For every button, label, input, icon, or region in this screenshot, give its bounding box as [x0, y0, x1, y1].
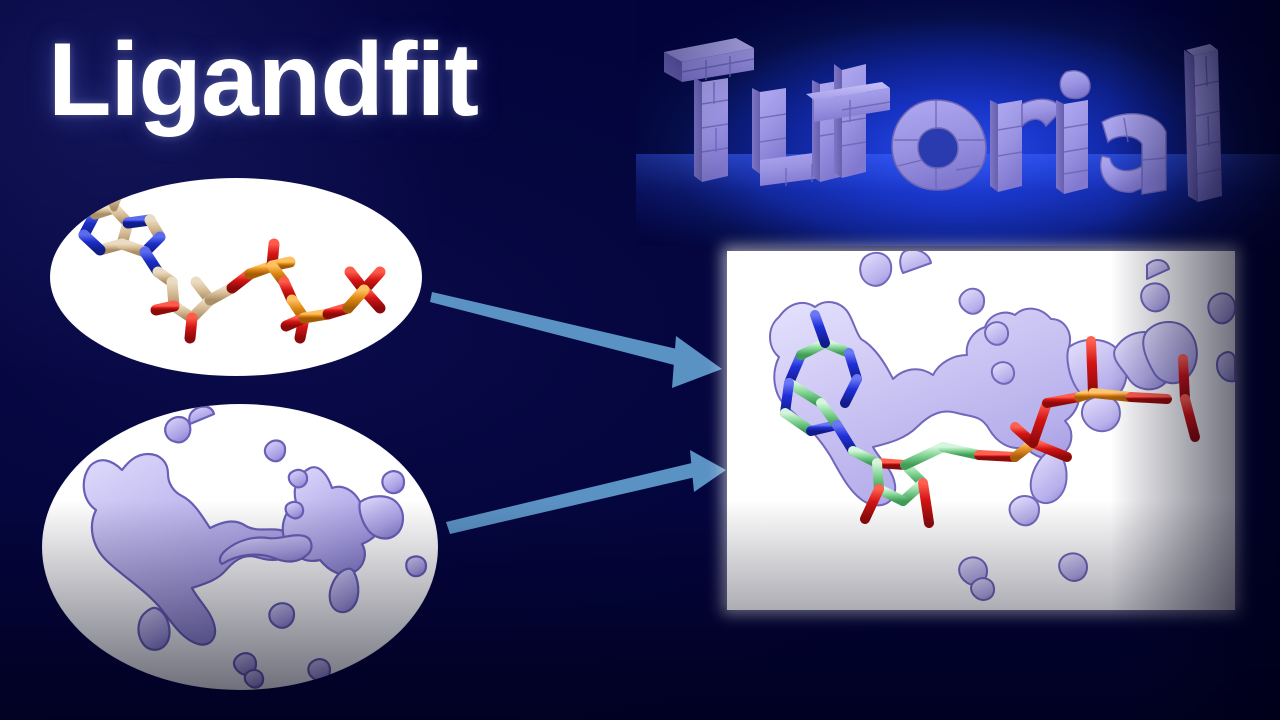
electron-density-isosurface — [42, 404, 438, 690]
slide-title: Ligandfit — [48, 24, 478, 136]
slide-canvas: Tutorial Ligandfit — [0, 0, 1280, 720]
ligand-fitted-into-density — [727, 251, 1235, 610]
ligand-model-oval-clip — [50, 178, 422, 376]
density-map-oval — [42, 404, 438, 690]
fitted-ligand-result-panel — [727, 251, 1235, 610]
ligand-model-oval — [50, 178, 422, 376]
tutorial-art-vignette — [636, 0, 1280, 246]
tutorial-title-art: Tutorial — [636, 0, 1280, 246]
density-map-oval-clip — [42, 404, 438, 690]
atp-ligand-sticks — [50, 178, 422, 376]
